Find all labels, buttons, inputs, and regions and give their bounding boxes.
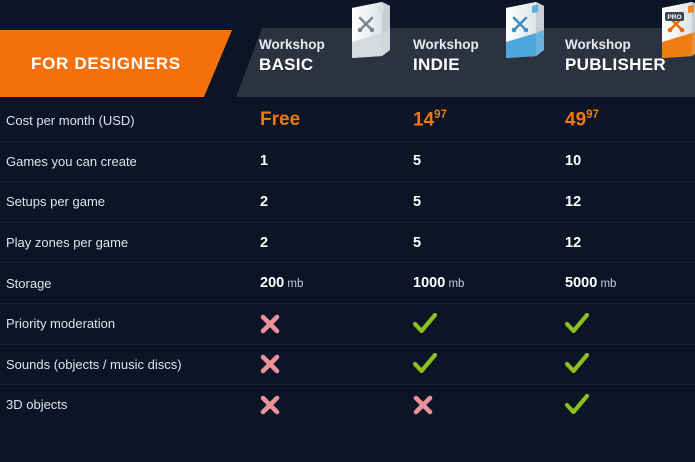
price-amount: 49	[565, 109, 586, 130]
check-icon	[413, 353, 437, 375]
price-amount: Free	[260, 109, 300, 130]
price-cents: 97	[586, 109, 599, 121]
price-value: 1497	[413, 109, 447, 131]
cell-value: 5	[413, 235, 421, 251]
row-label: Storage	[6, 276, 52, 291]
tier-sub-label: Workshop	[259, 36, 325, 53]
storage-unit: mb	[597, 278, 616, 290]
pricing-header: FOR DESIGNERS Workshop BASIC Workshop IN…	[0, 0, 695, 100]
price-amount: 14	[413, 109, 434, 130]
cell-value: 12	[565, 194, 581, 210]
tier-header-indie[interactable]: Workshop INDIE	[413, 36, 479, 76]
price-value: 4997	[565, 109, 599, 131]
check-icon	[413, 313, 437, 335]
cell-value: 2	[260, 194, 268, 210]
storage-value: 1000 mb	[413, 275, 464, 291]
software-box-indie-icon	[492, 0, 550, 62]
storage-unit: mb	[284, 278, 303, 290]
storage-amount: 5000	[565, 275, 597, 291]
storage-amount: 200	[260, 275, 284, 291]
row-label: Cost per month (USD)	[6, 113, 135, 128]
table-row: Priority moderation	[0, 303, 695, 344]
check-icon	[565, 394, 589, 416]
table-row: Games you can create1510	[0, 141, 695, 182]
cross-icon	[260, 354, 280, 374]
cell-value: 2	[260, 235, 268, 251]
for-designers-banner: FOR DESIGNERS	[0, 30, 232, 97]
cell-value: 12	[565, 235, 581, 251]
cross-icon	[260, 395, 280, 415]
row-label: Sounds (objects / music discs)	[6, 357, 182, 372]
cell-value: 10	[565, 153, 581, 169]
price-cents: 97	[434, 109, 447, 121]
storage-unit: mb	[445, 278, 464, 290]
storage-value: 5000 mb	[565, 275, 616, 291]
table-row: Cost per month (USD)Free14974997	[0, 100, 695, 141]
cross-icon	[260, 314, 280, 334]
table-row: 3D objects	[0, 384, 695, 425]
table-row: Sounds (objects / music discs)	[0, 344, 695, 385]
pricing-comparison-page: FOR DESIGNERS Workshop BASIC Workshop IN…	[0, 0, 695, 462]
cell-value: 5	[413, 194, 421, 210]
check-icon	[565, 353, 589, 375]
row-label: Play zones per game	[6, 235, 128, 250]
row-label: Games you can create	[6, 154, 137, 169]
table-row: Play zones per game2512	[0, 222, 695, 263]
tier-sub-label: Workshop	[413, 36, 479, 53]
comparison-table: Cost per month (USD)Free14974997Games yo…	[0, 100, 695, 425]
storage-amount: 1000	[413, 275, 445, 291]
software-box-basic-icon	[338, 0, 396, 62]
cell-value: 1	[260, 153, 268, 169]
tier-name-label: INDIE	[413, 53, 479, 76]
check-icon	[565, 313, 589, 335]
price-value: Free	[260, 109, 300, 131]
table-row: Storage200 mb1000 mb5000 mb	[0, 262, 695, 303]
cell-value: 5	[413, 153, 421, 169]
storage-value: 200 mb	[260, 275, 303, 291]
row-label: 3D objects	[6, 397, 67, 412]
row-label: Priority moderation	[6, 316, 115, 331]
software-box-publisher-icon: PRO	[648, 0, 695, 62]
banner-label: FOR DESIGNERS	[0, 54, 181, 74]
tier-name-label: BASIC	[259, 53, 325, 76]
table-row: Setups per game2512	[0, 181, 695, 222]
row-label: Setups per game	[6, 194, 105, 209]
cross-icon	[413, 395, 433, 415]
svg-text:PRO: PRO	[667, 14, 681, 21]
tier-header-basic[interactable]: Workshop BASIC	[259, 36, 325, 76]
